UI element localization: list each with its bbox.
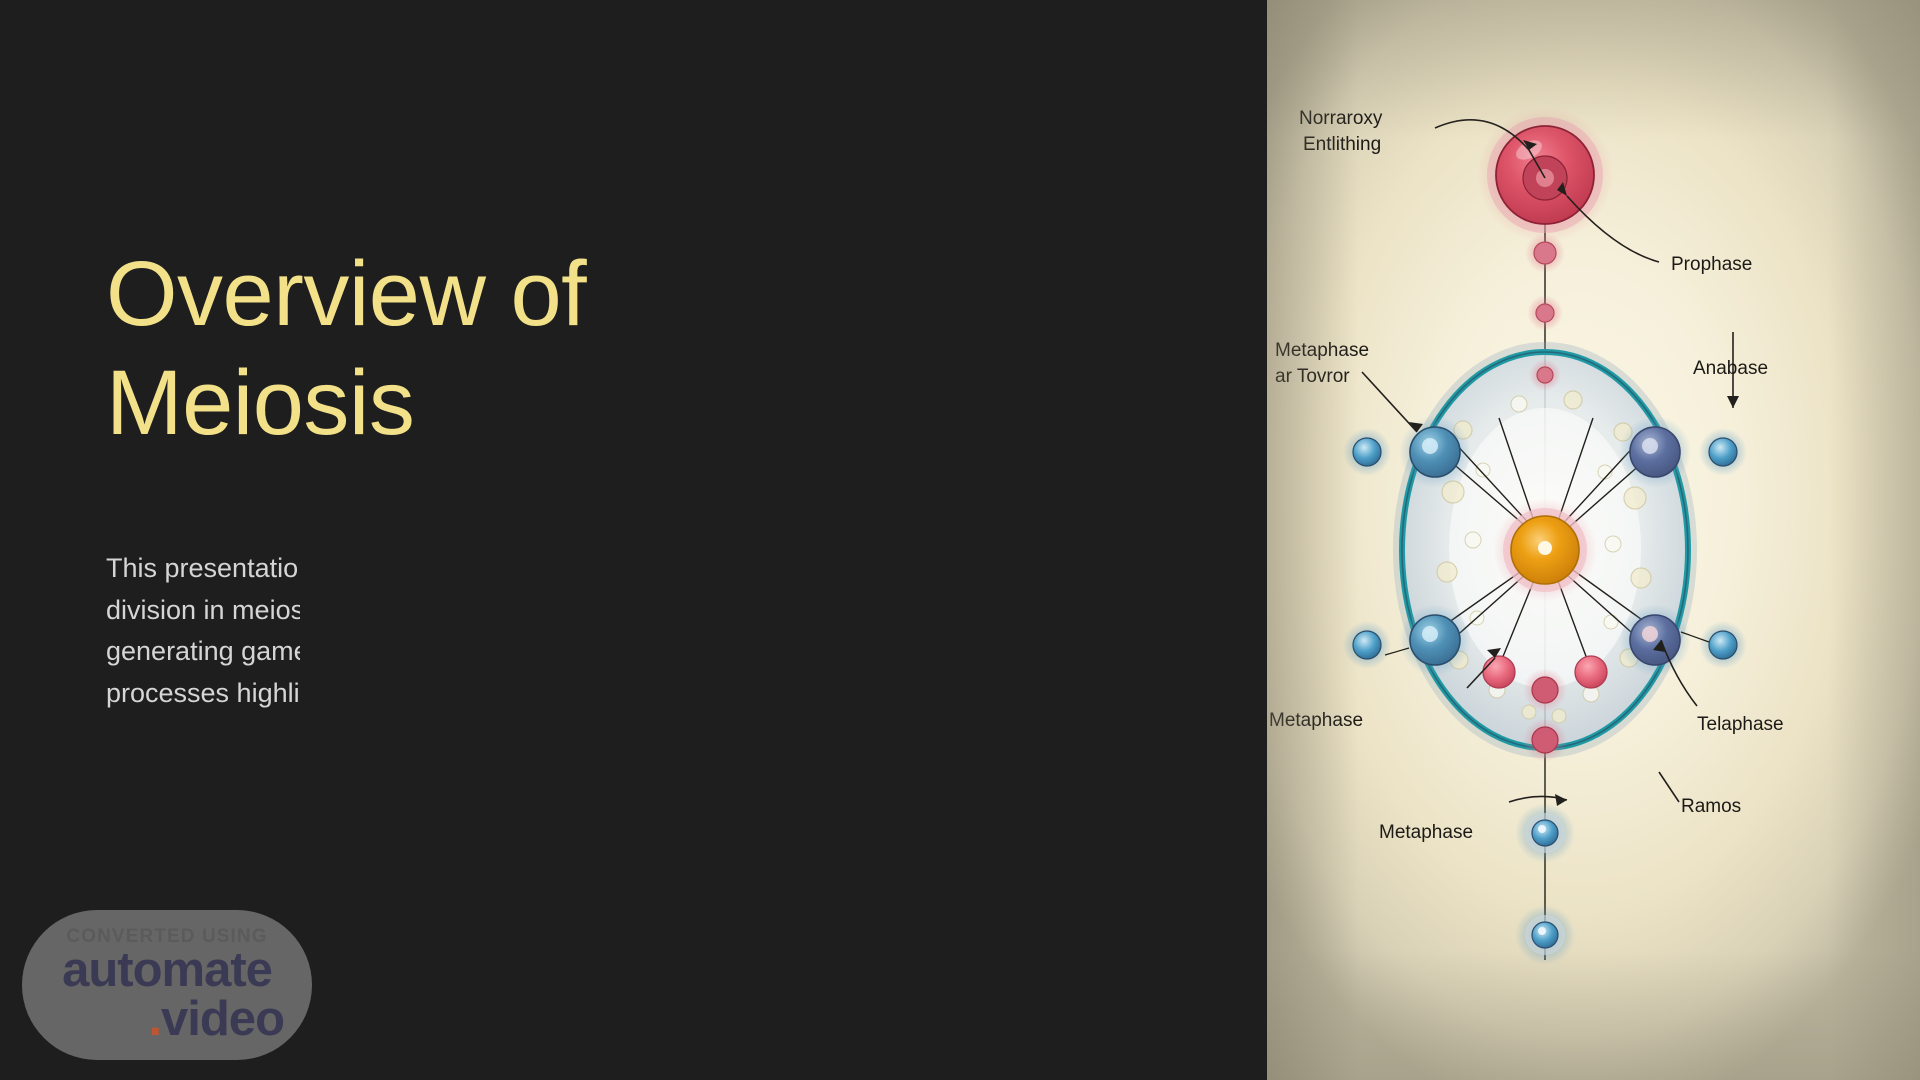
- watermark-brand-suffix: .video: [148, 995, 284, 1044]
- slide-text-panel: Overview of Meiosis This presentation ex…: [0, 0, 1267, 1080]
- slide-image-panel: Norraroxy Entlithing Prophase Metaphase …: [1267, 0, 1920, 1080]
- watermark-badge: CONVERTED USING automate .video: [22, 910, 312, 1060]
- watermark-dot: .: [148, 995, 161, 1044]
- slide-body-clip: This presentation explores the intricate…: [106, 548, 300, 788]
- presentation-slide: Overview of Meiosis This presentation ex…: [0, 0, 1920, 1080]
- title-block: Overview of Meiosis: [106, 240, 666, 457]
- watermark-brand: automate: [62, 946, 272, 994]
- watermark-suffix-text: video: [161, 995, 284, 1044]
- slide-body-text: This presentation explores the intricate…: [106, 548, 300, 714]
- illustration-vignette: [1267, 0, 1920, 1080]
- page-title: Overview of Meiosis: [106, 240, 666, 457]
